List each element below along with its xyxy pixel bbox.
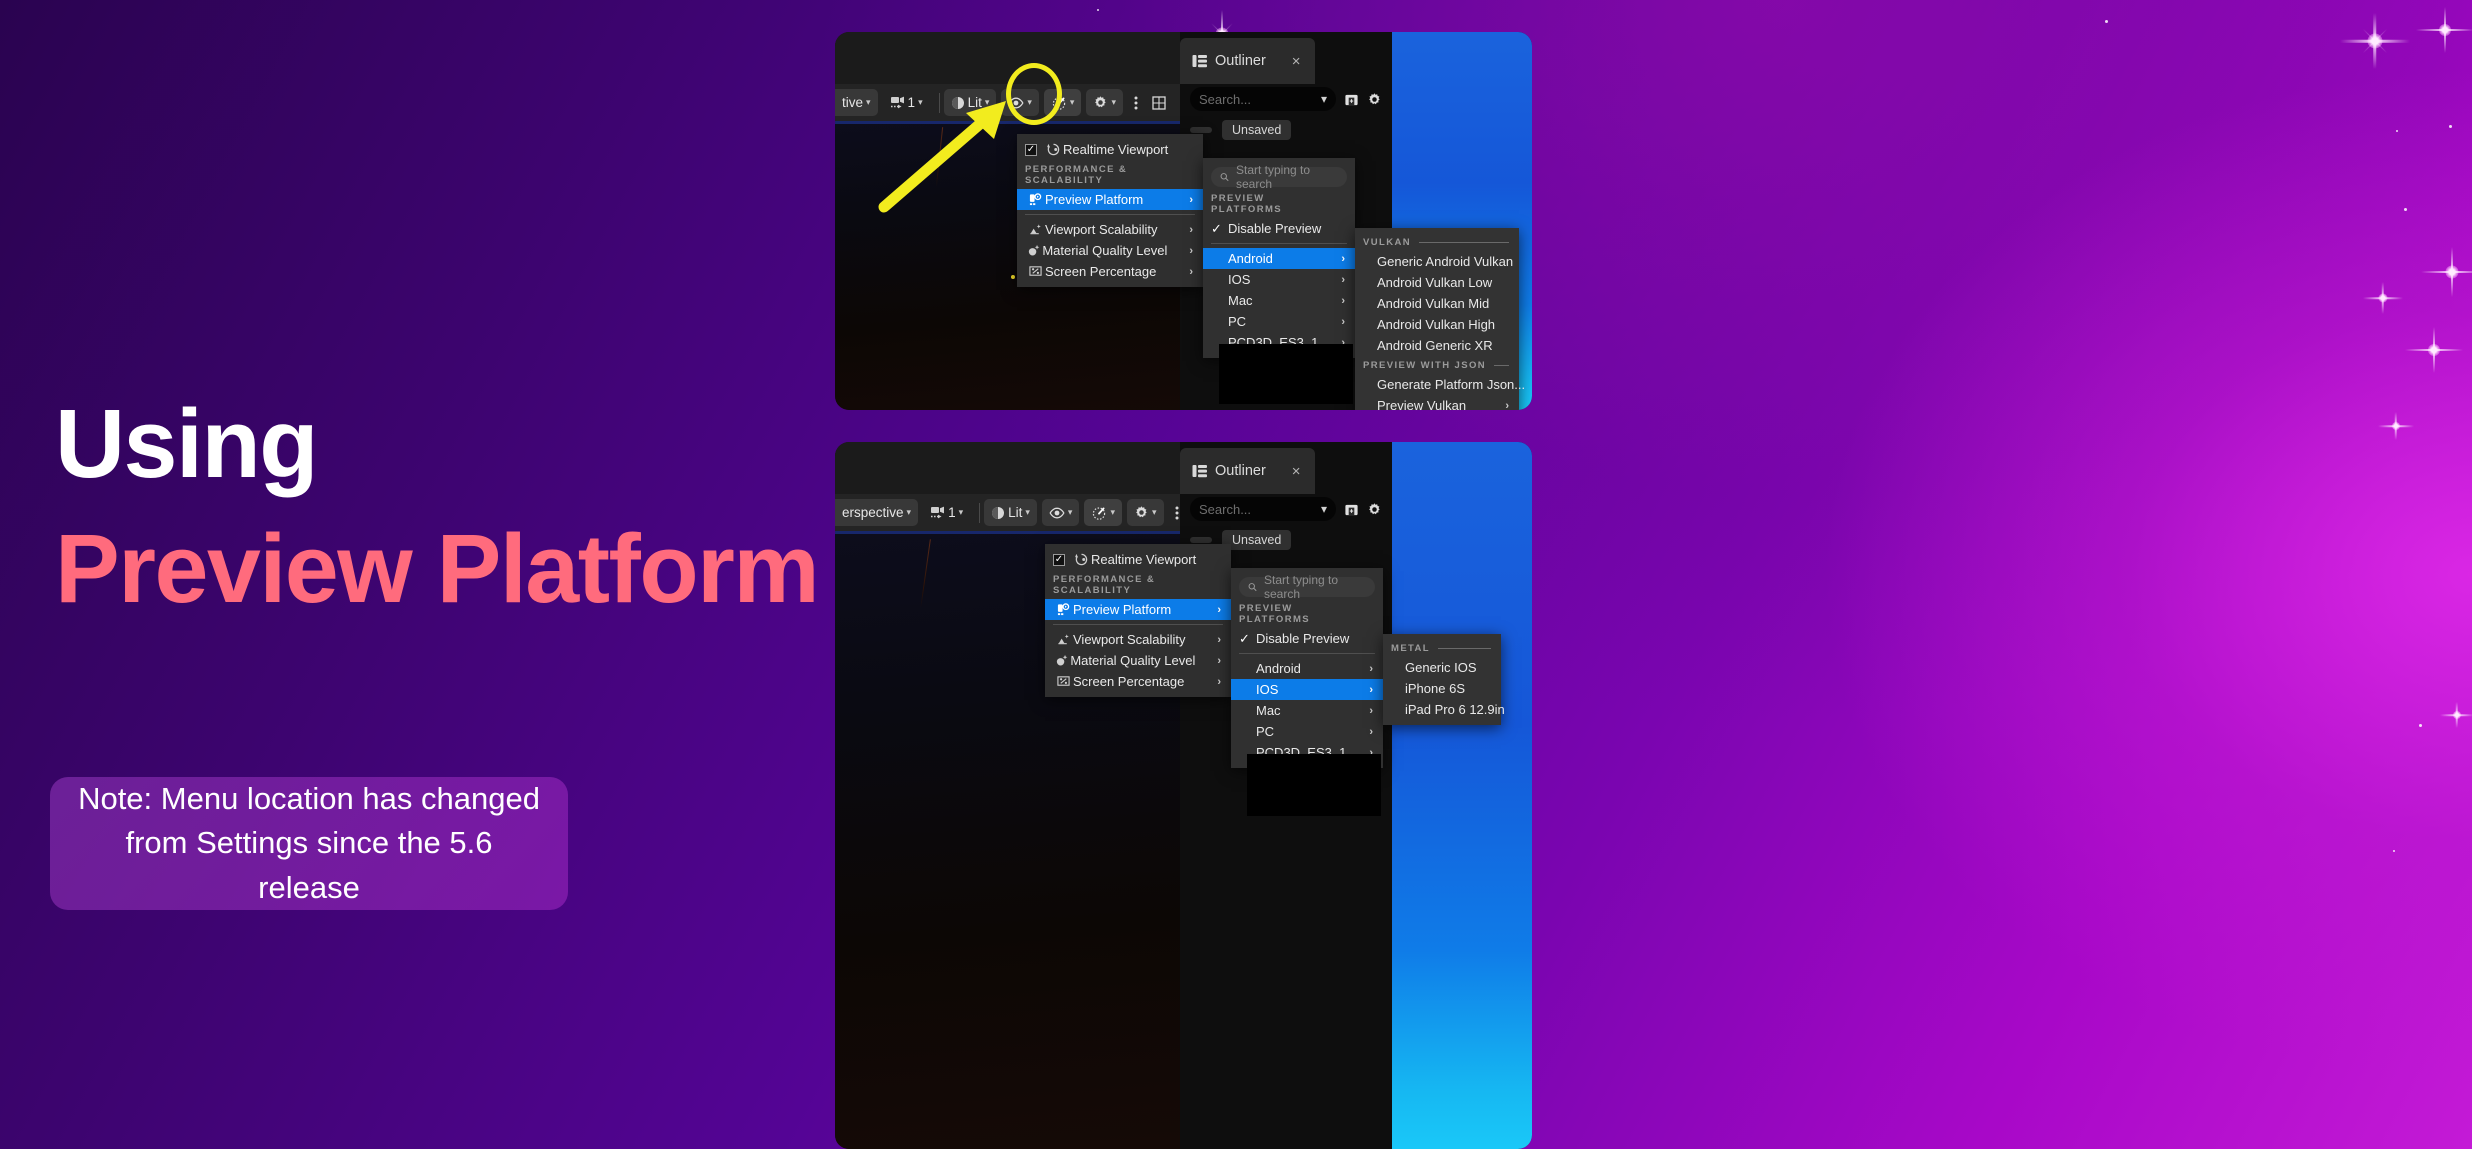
- menu-item-label: IOS: [1256, 682, 1347, 697]
- chevron-right-icon: ›: [1189, 194, 1193, 206]
- title-block: Using Preview Platform: [55, 395, 818, 617]
- menu-item-platform-ios[interactable]: IOS ›: [1231, 679, 1383, 700]
- menu-item-device[interactable]: Android Generic XR: [1355, 335, 1519, 356]
- close-icon[interactable]: ×: [1292, 53, 1301, 70]
- outliner-chip-unsaved[interactable]: Unsaved: [1222, 530, 1291, 550]
- menu-item-realtime-viewport[interactable]: ✓ Realtime Viewport: [1017, 139, 1203, 160]
- camera-speed-button[interactable]: 1 ▾: [923, 499, 970, 526]
- lit-mode-label: Lit: [968, 95, 982, 110]
- viewport-light-dot: [1011, 275, 1015, 279]
- menu-item-label: Android: [1228, 251, 1319, 266]
- menu-item-preview-vulkan[interactable]: Preview Vulkan ›: [1355, 395, 1519, 410]
- menu-item-label: Viewport Scalability: [1045, 222, 1167, 237]
- menu-item-device[interactable]: iPhone 6S: [1383, 678, 1501, 699]
- lit-mode-label: Lit: [1008, 505, 1022, 520]
- screenshot-bottom: erspective ▾ 1 ▾: [835, 442, 1532, 1149]
- camera-icon: [930, 506, 945, 519]
- chevron-right-icon: ›: [1189, 245, 1193, 257]
- viewport-scalability-icon: [1053, 633, 1073, 646]
- view-mode-label: tive: [842, 95, 863, 110]
- chevron-down-icon: ▾: [907, 507, 912, 518]
- outliner-search-row: Search... ▾: [1190, 496, 1382, 522]
- page-title-line2: Preview Platform: [55, 520, 818, 617]
- divider: [1239, 653, 1375, 654]
- platform-search-input[interactable]: Start typing to search: [1211, 167, 1347, 187]
- divider: [1211, 243, 1347, 244]
- platform-search-input[interactable]: Start typing to search: [1239, 577, 1375, 597]
- chevron-right-icon: ›: [1189, 266, 1193, 278]
- menu-item-preview-platform[interactable]: Preview Platform ›: [1045, 599, 1231, 620]
- menu-item-label: Screen Percentage: [1045, 264, 1167, 279]
- divider: [1053, 624, 1223, 625]
- sparkle-dot-icon: [2404, 208, 2407, 211]
- outliner-chip-blank[interactable]: [1190, 127, 1212, 133]
- screenshot-top: tive ▾ 1 ▾: [835, 32, 1532, 410]
- realtime-icon: [1071, 553, 1091, 566]
- tab-outliner-label: Outliner: [1215, 463, 1266, 479]
- viewport-ridge: [920, 539, 931, 608]
- viewport-settings-button[interactable]: ▾: [1086, 89, 1123, 116]
- menu-item-device[interactable]: Android Vulkan High: [1355, 314, 1519, 335]
- camera-speed-button[interactable]: 1 ▾: [883, 89, 930, 116]
- performance-scalability-button[interactable]: ▾: [1044, 89, 1082, 116]
- close-icon[interactable]: ×: [1292, 463, 1301, 480]
- sparkle-dot-icon: [2419, 724, 2422, 727]
- menu-item-platform-android[interactable]: Android ›: [1231, 658, 1383, 679]
- divider: [1025, 214, 1195, 215]
- menu-section-metal: METAL: [1383, 639, 1501, 657]
- lit-mode-button[interactable]: Lit ▾: [984, 499, 1037, 526]
- menu-section-label: METAL: [1391, 643, 1430, 654]
- menu-item-label: iPad Pro 6 12.9in: [1405, 702, 1505, 717]
- android-device-submenu-top: VULKAN Generic Android Vulkan Android Vu…: [1355, 228, 1519, 410]
- sparkle-dot-icon: [2396, 130, 2398, 132]
- search-icon: [1248, 582, 1257, 592]
- slide-root: Using Preview Platform Note: Menu locati…: [0, 0, 2472, 1149]
- check-icon: ✓: [1211, 221, 1228, 237]
- menu-item-label: Generic IOS: [1405, 660, 1491, 675]
- chevron-right-icon: ›: [1369, 684, 1373, 696]
- chevron-down-icon[interactable]: ▾: [1321, 502, 1327, 516]
- menu-item-disable-preview[interactable]: ✓ Disable Preview: [1203, 218, 1355, 239]
- preview-platform-icon: [1053, 603, 1073, 616]
- chevron-right-icon: ›: [1341, 295, 1345, 307]
- menu-item-device[interactable]: Generic IOS: [1383, 657, 1501, 678]
- save-folder-icon[interactable]: [1344, 502, 1359, 517]
- menu-section-preview-platforms: PREVIEW PLATFORMS: [1203, 189, 1355, 218]
- gear-icon[interactable]: [1367, 502, 1382, 517]
- menu-item-material-quality-level[interactable]: Material Quality Level ›: [1017, 240, 1203, 261]
- note-text: Note: Menu location has changed from Set…: [50, 777, 568, 909]
- menu-item-material-quality-level[interactable]: Material Quality Level ›: [1045, 650, 1231, 671]
- menu-item-label: Viewport Scalability: [1073, 632, 1195, 647]
- checkbox-icon[interactable]: ✓: [1053, 554, 1065, 566]
- platform-search-placeholder: Start typing to search: [1264, 573, 1366, 601]
- editor-blue-panel: [1392, 442, 1532, 1149]
- toolbar-divider: [939, 93, 940, 113]
- note-callout: Note: Menu location has changed from Set…: [50, 777, 568, 910]
- chevron-right-icon: ›: [1217, 604, 1221, 616]
- menu-item-label: Material Quality Level: [1042, 243, 1167, 258]
- preview-platform-icon: [1025, 193, 1045, 206]
- sparkle-icon: [2415, 0, 2472, 60]
- sparkle-dot-icon: [1097, 9, 1099, 11]
- sparkle-icon: [2370, 400, 2422, 452]
- menu-item-label: Realtime Viewport: [1091, 552, 1221, 567]
- viewport-ridge: [936, 127, 943, 187]
- chevron-right-icon: ›: [1369, 663, 1373, 675]
- menu-item-label: Material Quality Level: [1070, 653, 1195, 668]
- menu-item-platform-pc[interactable]: PC ›: [1231, 721, 1383, 742]
- outliner-chip-unsaved[interactable]: Unsaved: [1222, 120, 1291, 140]
- view-mode-button[interactable]: tive ▾: [835, 89, 878, 116]
- sparkle-icon: [2420, 240, 2472, 304]
- toolbar-divider: [979, 503, 980, 523]
- menu-item-platform-ios[interactable]: IOS ›: [1203, 269, 1355, 290]
- chevron-down-icon: ▾: [959, 507, 964, 518]
- menu-item-platform-pc[interactable]: PC ›: [1203, 311, 1355, 332]
- lit-sphere-icon: [991, 506, 1005, 520]
- sparkle-dot-icon: [2105, 20, 2108, 23]
- view-mode-label: erspective: [842, 505, 904, 520]
- menu-item-device[interactable]: iPad Pro 6 12.9in: [1383, 699, 1501, 720]
- outliner-icon: [1192, 464, 1207, 478]
- realtime-icon: [1043, 143, 1063, 156]
- outliner-chip-row: Unsaved: [1190, 120, 1291, 140]
- menu-shadow-box: [1247, 754, 1381, 816]
- chevron-right-icon: ›: [1341, 253, 1345, 265]
- chevron-down-icon: ▾: [1025, 507, 1030, 518]
- speedometer-icon: [1051, 96, 1067, 110]
- eye-icon: [1008, 97, 1024, 109]
- menu-item-screen-percentage[interactable]: Screen Percentage ›: [1017, 261, 1203, 282]
- menu-shadow-box: [1219, 344, 1353, 404]
- menu-item-label: Preview Platform: [1045, 192, 1167, 207]
- menu-item-label: Android Vulkan Low: [1377, 275, 1509, 290]
- material-quality-icon: [1025, 244, 1042, 257]
- menu-section-preview-platforms: PREVIEW PLATFORMS: [1231, 599, 1383, 628]
- menu-item-device[interactable]: Android Vulkan Low: [1355, 272, 1519, 293]
- sparkle-dot-icon: [2393, 850, 2395, 852]
- chevron-right-icon: ›: [1217, 655, 1221, 667]
- preview-platform-submenu-top: Start typing to search PREVIEW PLATFORMS…: [1203, 158, 1355, 358]
- menu-section-vulkan: VULKAN: [1355, 233, 1519, 251]
- menu-item-label: Preview Platform: [1073, 602, 1195, 617]
- speedometer-icon: [1091, 506, 1107, 520]
- show-flags-button[interactable]: ▾: [1042, 499, 1080, 526]
- sparkle-icon: [2340, 6, 2410, 76]
- chevron-right-icon: ›: [1189, 224, 1193, 236]
- divider: [1419, 242, 1509, 243]
- show-flags-button[interactable]: ▾: [1001, 89, 1039, 116]
- chevron-right-icon: ›: [1505, 400, 1509, 411]
- sparkle-icon: [2402, 318, 2466, 382]
- menu-item-label: Android Vulkan Mid: [1377, 296, 1509, 311]
- gear-icon[interactable]: [1367, 92, 1382, 107]
- gear-icon: [1093, 95, 1108, 110]
- checkbox-icon[interactable]: ✓: [1025, 144, 1037, 156]
- chevron-down-icon: ▾: [918, 97, 923, 108]
- menu-item-label: Android Generic XR: [1377, 338, 1509, 353]
- tab-outliner[interactable]: Outliner ×: [1180, 38, 1315, 84]
- menu-item-label: Android: [1256, 661, 1347, 676]
- menu-item-viewport-scalability[interactable]: Viewport Scalability ›: [1017, 219, 1203, 240]
- menu-item-label: Realtime Viewport: [1063, 142, 1193, 157]
- menu-item-label: Screen Percentage: [1073, 674, 1195, 689]
- chevron-down-icon: ▾: [1068, 507, 1073, 518]
- menu-item-label: Generic Android Vulkan: [1377, 254, 1513, 269]
- scalability-menu-top: ✓ Realtime Viewport PERFORMANCE & SCALAB…: [1017, 134, 1203, 287]
- lit-sphere-icon: [951, 96, 965, 110]
- tab-outliner[interactable]: Outliner ×: [1180, 448, 1315, 494]
- menu-section-label: PREVIEW WITH JSON: [1363, 360, 1486, 371]
- outliner-search-placeholder: Search...: [1199, 92, 1251, 107]
- outliner-icon: [1192, 54, 1207, 68]
- menu-item-platform-mac[interactable]: Mac ›: [1231, 700, 1383, 721]
- chevron-down-icon: ▾: [1152, 507, 1157, 518]
- chevron-right-icon: ›: [1369, 726, 1373, 738]
- chevron-down-icon: ▾: [1027, 97, 1032, 108]
- gear-icon: [1134, 505, 1149, 520]
- menu-item-label: Mac: [1256, 703, 1347, 718]
- menu-section-label: VULKAN: [1363, 237, 1411, 248]
- menu-item-device[interactable]: Generic Android Vulkan: [1355, 251, 1519, 272]
- camera-speed-label: 1: [948, 505, 956, 520]
- layout-button[interactable]: [1146, 89, 1172, 116]
- chevron-down-icon: ▾: [1111, 97, 1116, 108]
- menu-section-performance: PERFORMANCE & SCALABILITY: [1017, 160, 1203, 189]
- divider: [1494, 365, 1509, 366]
- page-title-line1: Using: [55, 395, 818, 492]
- performance-scalability-button[interactable]: ▾: [1084, 499, 1122, 526]
- menu-item-label: IOS: [1228, 272, 1319, 287]
- menu-item-label: Disable Preview: [1228, 221, 1345, 236]
- menu-section-label: PERFORMANCE & SCALABILITY: [1025, 164, 1185, 186]
- menu-section-label: PERFORMANCE & SCALABILITY: [1053, 574, 1213, 596]
- chevron-down-icon: ▾: [866, 97, 871, 108]
- menu-item-realtime-viewport[interactable]: ✓ Realtime Viewport: [1045, 549, 1231, 570]
- menu-section-preview-with-json: PREVIEW WITH JSON: [1355, 356, 1519, 374]
- outliner-search-placeholder: Search...: [1199, 502, 1251, 517]
- menu-item-disable-preview[interactable]: ✓ Disable Preview: [1231, 628, 1383, 649]
- ios-device-submenu-bottom: METAL Generic IOS iPhone 6S iPad Pro 6 1…: [1383, 634, 1501, 725]
- scalability-menu-bottom: ✓ Realtime Viewport PERFORMANCE & SCALAB…: [1045, 544, 1231, 697]
- material-quality-icon: [1053, 654, 1070, 667]
- sparkle-icon: [2355, 270, 2411, 326]
- menu-section-label: PREVIEW PLATFORMS: [1211, 193, 1337, 215]
- menu-item-platform-mac[interactable]: Mac ›: [1203, 290, 1355, 311]
- chevron-right-icon: ›: [1341, 316, 1345, 328]
- screen-percentage-icon: [1053, 675, 1073, 688]
- menu-item-label: Mac: [1228, 293, 1319, 308]
- preview-platform-submenu-bottom: Start typing to search PREVIEW PLATFORMS…: [1231, 568, 1383, 768]
- screen-percentage-icon: [1025, 265, 1045, 278]
- check-icon: ✓: [1239, 631, 1256, 647]
- sparkle-icon: [2432, 690, 2472, 740]
- chevron-down-icon: ▾: [1070, 97, 1075, 108]
- menu-item-generate-platform-json[interactable]: Generate Platform Json...: [1355, 374, 1519, 395]
- chevron-right-icon: ›: [1341, 274, 1345, 286]
- camera-icon: [890, 96, 905, 109]
- menu-item-label: Generate Platform Json...: [1377, 377, 1525, 392]
- menu-item-label: PC: [1228, 314, 1319, 329]
- chevron-right-icon: ›: [1217, 634, 1221, 646]
- vertical-dots-icon: [1175, 506, 1179, 520]
- search-icon: [1220, 172, 1229, 182]
- chevron-right-icon: ›: [1217, 676, 1221, 688]
- outliner-search-input[interactable]: Search... ▾: [1190, 497, 1336, 521]
- chevron-down-icon: ▾: [985, 97, 990, 108]
- divider: [1438, 648, 1491, 649]
- menu-item-label: Android Vulkan High: [1377, 317, 1509, 332]
- eye-icon: [1049, 507, 1065, 519]
- vertical-dots-icon: [1134, 96, 1138, 110]
- chevron-down-icon[interactable]: ▾: [1321, 92, 1327, 106]
- menu-item-device[interactable]: Android Vulkan Mid: [1355, 293, 1519, 314]
- lit-mode-button[interactable]: Lit ▾: [944, 89, 997, 116]
- menu-item-label: Disable Preview: [1256, 631, 1373, 646]
- camera-speed-label: 1: [908, 95, 916, 110]
- menu-item-screen-percentage[interactable]: Screen Percentage ›: [1045, 671, 1231, 692]
- menu-section-label: PREVIEW PLATFORMS: [1239, 603, 1365, 625]
- viewport-settings-button[interactable]: ▾: [1127, 499, 1164, 526]
- tab-outliner-label: Outliner: [1215, 53, 1266, 69]
- menu-item-preview-platform[interactable]: Preview Platform ›: [1017, 189, 1203, 210]
- menu-item-label: iPhone 6S: [1405, 681, 1491, 696]
- menu-item-platform-android[interactable]: Android ›: [1203, 248, 1355, 269]
- outliner-search-input[interactable]: Search... ▾: [1190, 87, 1336, 111]
- platform-search-placeholder: Start typing to search: [1236, 163, 1338, 191]
- menu-item-viewport-scalability[interactable]: Viewport Scalability ›: [1045, 629, 1231, 650]
- menu-item-label: Preview Vulkan: [1377, 398, 1495, 410]
- more-options-button[interactable]: [1128, 89, 1144, 116]
- outliner-search-row: Search... ▾: [1190, 86, 1382, 112]
- menu-item-label: PC: [1256, 724, 1347, 739]
- view-mode-button[interactable]: erspective ▾: [835, 499, 918, 526]
- chevron-down-icon: ▾: [1110, 507, 1115, 518]
- sparkle-dot-icon: [2449, 125, 2452, 128]
- menu-section-performance: PERFORMANCE & SCALABILITY: [1045, 570, 1231, 599]
- chevron-right-icon: ›: [1369, 705, 1373, 717]
- viewport-scalability-icon: [1025, 223, 1045, 236]
- grid-layout-icon: [1152, 96, 1166, 110]
- outliner-chip-blank[interactable]: [1190, 537, 1212, 543]
- save-folder-icon[interactable]: [1344, 92, 1359, 107]
